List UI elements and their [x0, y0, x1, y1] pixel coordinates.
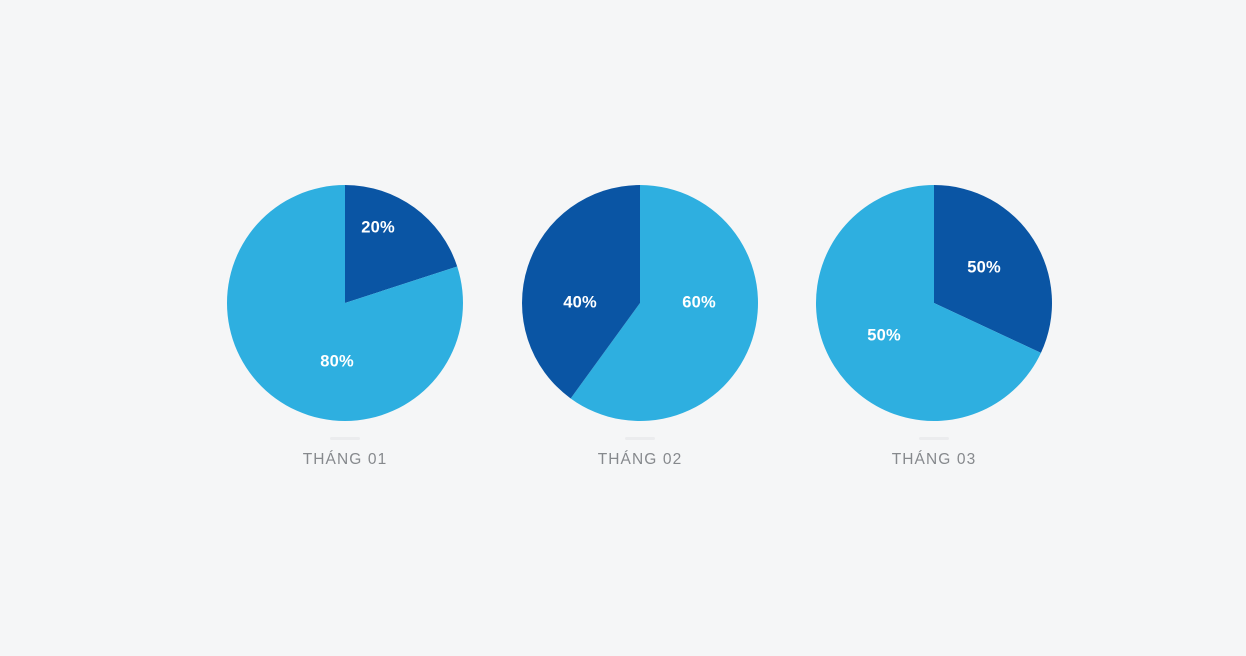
category-tick-1	[330, 437, 360, 440]
pie-svg-3: 50%50%	[810, 179, 1058, 427]
category-label-1: THÁNG 01	[245, 451, 445, 469]
pie-svg-1: 20%80%	[221, 179, 469, 427]
pie-chart-3[interactable]: 50%50%	[810, 179, 1058, 427]
pie-slice-label-2: 50%	[867, 326, 901, 344]
category-label-2: THÁNG 02	[540, 451, 740, 469]
pie-slice-label-1: 60%	[682, 293, 716, 311]
pie-slice-label-2: 40%	[563, 293, 597, 311]
pie-chart-2[interactable]: 60%40%	[516, 179, 764, 427]
category-tick-2	[625, 437, 655, 440]
category-label-3: THÁNG 03	[834, 451, 1034, 469]
pie-slice-label-1: 20%	[361, 218, 395, 236]
charts-row: 20%80%60%40%50%50%THÁNG 01THÁNG 02THÁNG …	[0, 0, 1246, 656]
pie-chart-1[interactable]: 20%80%	[221, 179, 469, 427]
pie-slice-label-2: 80%	[320, 352, 354, 370]
pie-chart-figure: 20%80%60%40%50%50%THÁNG 01THÁNG 02THÁNG …	[0, 0, 1246, 656]
pie-slice-label-1: 50%	[967, 258, 1001, 276]
category-tick-3	[919, 437, 949, 440]
pie-svg-2: 60%40%	[516, 179, 764, 427]
